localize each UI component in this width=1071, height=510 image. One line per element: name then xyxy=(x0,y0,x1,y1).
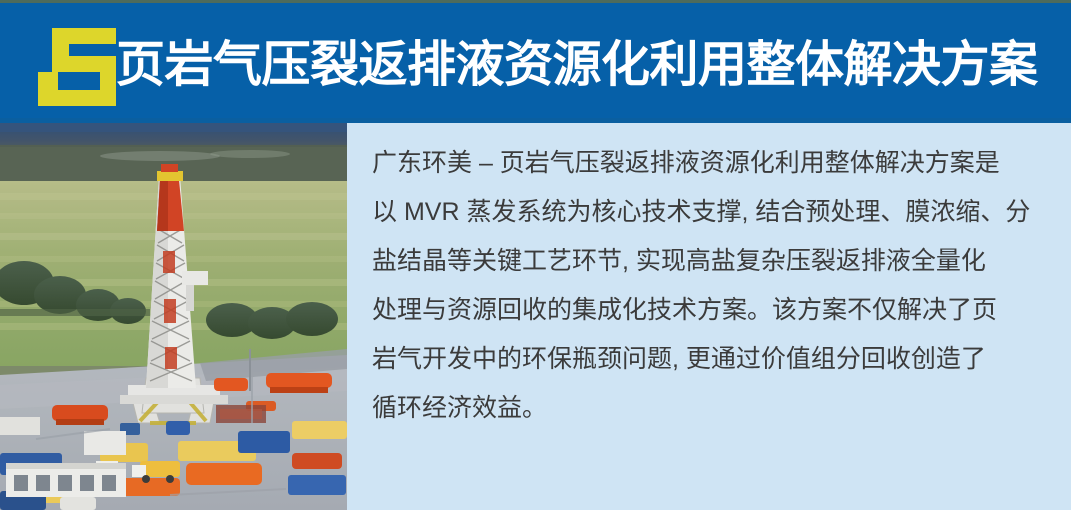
content-area: 广东环美 – 页岩气压裂返排液资源化利用整体解决方案是 以 MVR 蒸发系统为核… xyxy=(0,123,1071,510)
paragraph-line: 以 MVR 蒸发系统为核心技术支撑, 结合预处理、膜浓缩、分 xyxy=(372,188,1050,237)
page-title: 页岩气压裂返排液资源化利用整体解决方案 xyxy=(116,29,1038,101)
paragraph-line: 循环经济效益。 xyxy=(372,384,1050,433)
section-number-badge xyxy=(38,28,116,106)
rig-photo-scene xyxy=(0,123,347,510)
description-panel: 广东环美 – 页岩气压裂返排液资源化利用整体解决方案是 以 MVR 蒸发系统为核… xyxy=(347,123,1071,510)
paragraph-line: 广东环美 – 页岩气压裂返排液资源化利用整体解决方案是 xyxy=(372,139,1050,188)
numeral-two-icon xyxy=(38,28,116,106)
paragraph-line: 盐结晶等关键工艺环节, 实现高盐复杂压裂返排液全量化 xyxy=(372,237,1050,286)
slide-root: 页岩气压裂返排液资源化利用整体解决方案 xyxy=(0,0,1071,510)
header-banner: 页岩气压裂返排液资源化利用整体解决方案 xyxy=(0,3,1071,122)
paragraph-line: 岩气开发中的环保瓶颈问题, 更通过价值组分回收创造了 xyxy=(372,335,1050,384)
paragraph-line: 处理与资源回收的集成化技术方案。该方案不仅解决了页 xyxy=(372,286,1050,335)
description-paragraph: 广东环美 – 页岩气压裂返排液资源化利用整体解决方案是 以 MVR 蒸发系统为核… xyxy=(372,139,1050,433)
rig-photo xyxy=(0,123,347,510)
